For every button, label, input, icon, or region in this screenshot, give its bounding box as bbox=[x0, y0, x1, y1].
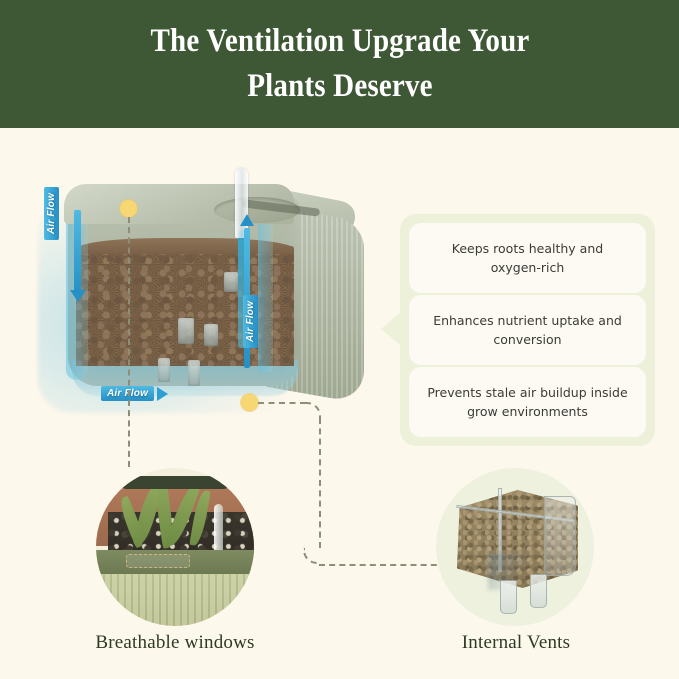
product-illustration: Air Flow Air Flow Air Flow bbox=[28, 168, 388, 430]
inset2-vent-wall bbox=[544, 496, 576, 576]
airflow-middle-label: Air Flow bbox=[243, 295, 258, 348]
hotspot-breathable-windows[interactable] bbox=[120, 200, 137, 217]
feature-card-stale-air[interactable]: Prevents stale air buildup inside grow e… bbox=[409, 367, 646, 437]
airflow-bottom-label: Air Flow bbox=[101, 386, 168, 401]
hotspot-internal-vents[interactable] bbox=[241, 394, 258, 411]
inset-internal-vents[interactable] bbox=[436, 468, 594, 626]
connector-line-vents-seg1 bbox=[258, 402, 306, 404]
inset-breathable-windows[interactable] bbox=[96, 468, 254, 626]
inset1-rim-top bbox=[120, 476, 230, 489]
caption-breathable-windows: Breathable windows bbox=[45, 632, 305, 654]
airflow-bottom-arrow-icon bbox=[157, 387, 168, 401]
connector-corner-bl bbox=[303, 548, 319, 564]
internal-vent-stub bbox=[158, 358, 170, 382]
feature-card-text: Enhances nutrient uptake and conversion bbox=[425, 311, 630, 349]
page-title: The Ventilation Upgrade Your Plants Dese… bbox=[111, 19, 569, 109]
internal-vent-stub bbox=[204, 324, 218, 346]
airflow-left-bar bbox=[74, 210, 81, 294]
inset1-breathable-window-highlight bbox=[126, 554, 190, 568]
feature-panel-pointer-icon bbox=[381, 312, 401, 346]
airflow-left-arrow-icon bbox=[70, 290, 86, 302]
infographic-page: The Ventilation Upgrade Your Plants Dese… bbox=[0, 0, 679, 679]
middle-breathable-window bbox=[258, 222, 273, 372]
internal-vent-stub bbox=[224, 272, 238, 292]
internal-vent-stub bbox=[188, 360, 200, 386]
airflow-middle-arrow-icon bbox=[240, 214, 254, 226]
header-banner: The Ventilation Upgrade Your Plants Dese… bbox=[0, 0, 679, 128]
feature-card-roots[interactable]: Keeps roots healthy and oxygen-rich bbox=[409, 223, 646, 293]
feature-card-nutrients[interactable]: Enhances nutrient uptake and conversion bbox=[409, 295, 646, 365]
caption-internal-vents: Internal Vents bbox=[386, 632, 646, 654]
internal-vent-stub bbox=[178, 318, 194, 344]
feature-card-text: Prevents stale air buildup inside grow e… bbox=[425, 383, 630, 421]
feature-panel: Keeps roots healthy and oxygen-rich Enha… bbox=[400, 214, 655, 446]
inset2-vent-leg bbox=[500, 580, 517, 614]
connector-line-vents-seg2 bbox=[319, 418, 321, 548]
feature-card-text: Keeps roots healthy and oxygen-rich bbox=[425, 239, 630, 277]
airflow-left-label: Air Flow bbox=[44, 187, 59, 240]
inset1-ribbed-base bbox=[96, 574, 254, 626]
connector-line-windows bbox=[128, 217, 130, 467]
inset2-vent-leg bbox=[530, 574, 547, 608]
connector-line-vents-seg3 bbox=[319, 564, 447, 566]
